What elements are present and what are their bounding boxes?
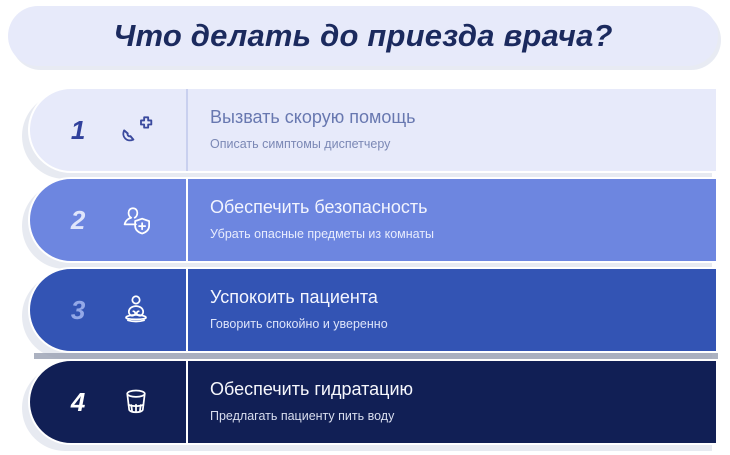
step-title-1: Вызвать скорую помощь [210, 108, 716, 128]
step-marker-2: 2 [30, 179, 188, 261]
step-row[interactable]: 1 Вызвать скорую помощь Описать симптомы… [28, 87, 718, 173]
step-subtitle-3: Говорить спокойно и уверенно [210, 318, 716, 332]
step-number-2: 2 [71, 207, 85, 233]
drinking-glass-icon [115, 381, 157, 423]
person-shield-plus-icon [115, 199, 157, 241]
step-title-3: Успокоить пациента [210, 288, 716, 308]
step-number-3: 3 [71, 297, 85, 323]
step-title-4: Обеспечить гидратацию [210, 380, 716, 400]
step-content-4: Обеспечить гидратацию Предлагать пациент… [188, 361, 716, 443]
phone-medical-cross-icon [115, 109, 157, 151]
steps-list: 1 Вызвать скорую помощь Описать симптомы… [0, 82, 730, 455]
step-content-3: Успокоить пациента Говорить спокойно и у… [188, 269, 716, 351]
step-content-1: Вызвать скорую помощь Описать симптомы д… [188, 89, 716, 171]
step-subtitle-4: Предлагать пациенту пить воду [210, 410, 716, 424]
meditation-lotus-icon [115, 289, 157, 331]
step-marker-3: 3 [30, 269, 188, 351]
step-content-2: Обеспечить безопасность Убрать опасные п… [188, 179, 716, 261]
title-banner: Что делать до приезда врача? [8, 6, 718, 66]
step-row[interactable]: 2 Обеспечить безопасность Убрать опасные… [28, 177, 718, 263]
step-subtitle-2: Убрать опасные предметы из комнаты [210, 228, 716, 242]
step-marker-4: 4 [30, 361, 188, 443]
step-subtitle-1: Описать симптомы диспетчеру [210, 138, 716, 152]
step-number-1: 1 [71, 117, 85, 143]
step-number-4: 4 [71, 389, 85, 415]
step-title-2: Обеспечить безопасность [210, 198, 716, 218]
step-marker-1: 1 [30, 89, 188, 171]
step-row[interactable]: 4 Обеспечить гидратацию Предлагать пацие… [28, 359, 718, 445]
page-title: Что делать до приезда врача? [113, 18, 612, 54]
step-row[interactable]: 3 Успокоить пациента Говорить спокойно и… [28, 267, 718, 353]
infographic-poster: Что делать до приезда врача? 1 Вызвать с… [0, 0, 730, 455]
